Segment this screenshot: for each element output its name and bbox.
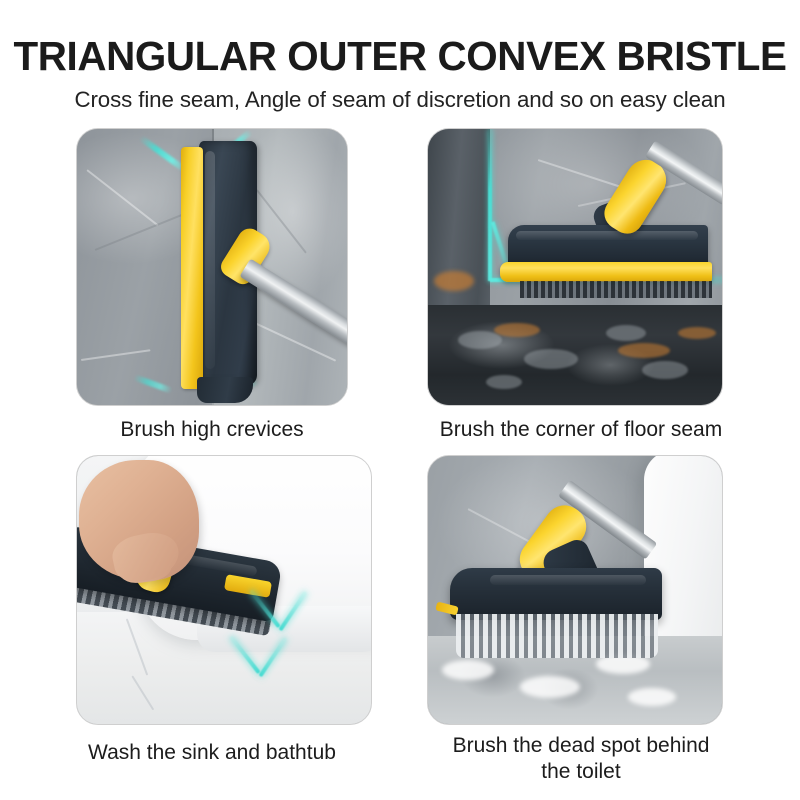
photo-wash-sink-bathtub [76, 455, 372, 725]
caption-wash-sink-bathtub: Wash the sink and bathtub [36, 740, 388, 766]
caption-brush-corner-floor-seam: Brush the corner of floor seam [405, 417, 757, 443]
brush-body [450, 568, 662, 620]
wet-floor [428, 305, 722, 405]
photo-brush-corner-floor-seam [427, 128, 723, 406]
corner-seam-vertical [488, 129, 492, 281]
silicone-blade [181, 147, 203, 389]
product-infographic: TRIANGULAR OUTER CONVEX BRISTLE Cross fi… [0, 0, 800, 800]
photo-brush-dead-spot-toilet [427, 455, 723, 725]
feature-panel-wash-sink-bathtub [76, 455, 372, 725]
caption-brush-high-crevices: Brush high crevices [36, 417, 388, 443]
feature-panel-brush-dead-spot-toilet [427, 455, 723, 725]
brush-tip [197, 377, 253, 403]
caption-brush-dead-spot-toilet: Brush the dead spot behind the toilet [405, 733, 757, 785]
stain-mark [434, 271, 474, 291]
photo-brush-high-crevices [76, 128, 348, 406]
bristle-row [520, 281, 712, 298]
brush-body [508, 225, 708, 267]
silicone-blade [500, 262, 712, 282]
feature-panel-brush-corner-floor-seam [427, 128, 723, 406]
feature-grid: Brush high crevices [0, 0, 800, 800]
feature-panel-brush-high-crevices [76, 128, 348, 406]
bristle-row [456, 614, 658, 658]
